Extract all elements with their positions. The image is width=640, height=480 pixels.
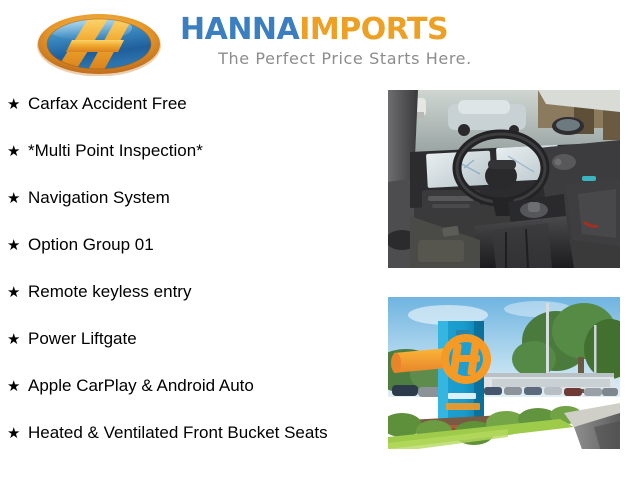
hanna-oval-h-emblem-icon xyxy=(28,12,170,76)
feature-label: *Multi Point Inspection* xyxy=(28,137,328,162)
vehicle-interior-photo[interactable] xyxy=(388,90,620,268)
star-bullet-icon: ★ xyxy=(7,377,20,397)
feature-label: Heated & Ventilated Front Bucket Seats xyxy=(28,419,328,444)
wordmark-hanna: HANNA xyxy=(180,12,299,47)
wordmark-imports: IMPORTS xyxy=(299,12,448,47)
feature-label: Carfax Accident Free xyxy=(28,90,328,115)
star-bullet-icon: ★ xyxy=(7,236,20,256)
feature-label: Navigation System xyxy=(28,184,328,209)
feature-label: Apple CarPlay & Android Auto xyxy=(28,372,328,397)
star-bullet-icon: ★ xyxy=(7,283,20,303)
feature-label: Remote keyless entry xyxy=(28,278,328,303)
star-bullet-icon: ★ xyxy=(7,142,20,162)
list-item: ★ Carfax Accident Free xyxy=(0,90,380,137)
feature-label: Power Liftgate xyxy=(28,325,328,350)
list-item: ★ Power Liftgate xyxy=(0,325,380,372)
star-bullet-icon: ★ xyxy=(7,95,20,115)
dealership-sign-photo[interactable] xyxy=(388,297,620,455)
brand-header: HANNAIMPORTS The Perfect Price Starts He… xyxy=(0,0,640,88)
brand-tagline: The Perfect Price Starts Here. xyxy=(180,49,510,68)
star-bullet-icon: ★ xyxy=(7,189,20,209)
star-bullet-icon: ★ xyxy=(7,330,20,350)
list-item: ★ Navigation System xyxy=(0,184,380,231)
wordmark: HANNAIMPORTS xyxy=(180,14,525,46)
list-item: ★ *Multi Point Inspection* xyxy=(0,137,380,184)
star-bullet-icon: ★ xyxy=(7,424,20,444)
brand-wordmark-group: HANNAIMPORTS The Perfect Price Starts He… xyxy=(180,14,525,68)
list-item: ★ Option Group 01 xyxy=(0,231,380,278)
feature-label: Option Group 01 xyxy=(28,231,328,256)
list-item: ★ Apple CarPlay & Android Auto xyxy=(0,372,380,419)
vehicle-features-list: ★ Carfax Accident Free ★ *Multi Point In… xyxy=(0,90,380,475)
list-item: ★ Heated & Ventilated Front Bucket Seats xyxy=(0,419,380,475)
list-item: ★ Remote keyless entry xyxy=(0,278,380,325)
